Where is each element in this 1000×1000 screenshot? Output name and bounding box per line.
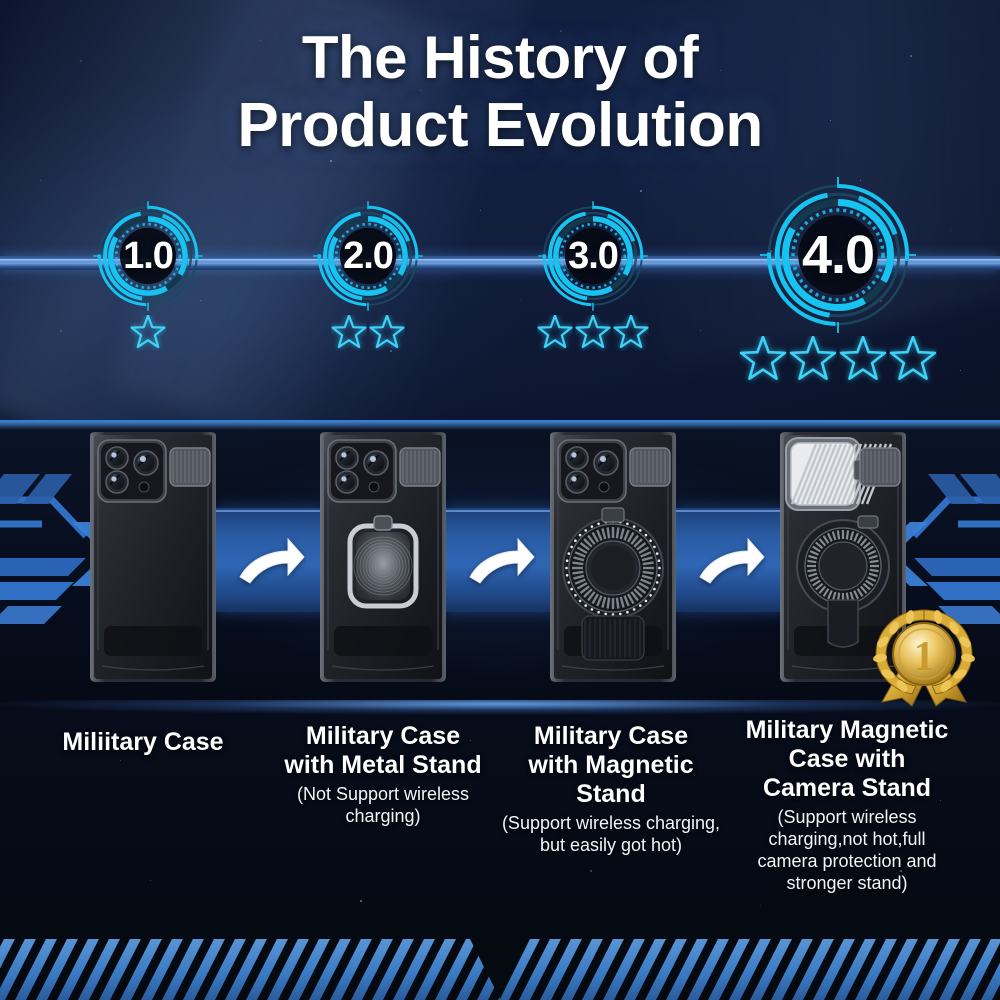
curved-arrow-up-right-icon	[215, 508, 327, 612]
product-name: Miliitary Case	[18, 728, 268, 757]
star-outline-icon	[889, 336, 937, 384]
product-note: (Support wireless charging,but easily go…	[496, 812, 726, 856]
hud-ring-icon: 1.0	[95, 203, 201, 309]
hud-ring-icon: 3.0	[540, 203, 646, 309]
phone-case-plain-icon[interactable]	[78, 430, 228, 690]
star-outline-icon	[739, 336, 787, 384]
product-name: Military Casewith Metal Stand	[268, 722, 498, 780]
phone-case-magnetic-icon[interactable]	[538, 430, 688, 690]
star-outline-icon	[331, 315, 367, 351]
version-number: 4.0	[763, 180, 913, 330]
star-outline-icon	[613, 315, 649, 351]
product-caption: Military Casewith MagneticStand(Support …	[496, 722, 726, 856]
infographic-canvas: The History of Product Evolution 1.0	[0, 0, 1000, 1000]
product-note: (Not Support wirelesscharging)	[268, 783, 498, 827]
star-outline-icon	[789, 336, 837, 384]
title-line-2: Product Evolution	[0, 92, 1000, 160]
star-rating	[536, 315, 650, 351]
product-caption: Military MagneticCase withCamera Stand(S…	[722, 716, 972, 894]
version-timeline: 1.0 2.0	[0, 170, 1000, 390]
product-name: Military MagneticCase withCamera Stand	[722, 716, 972, 803]
hud-ring-icon: 2.0	[315, 203, 421, 309]
star-rating	[329, 315, 407, 351]
star-outline-icon	[369, 315, 405, 351]
product-note: (Support wirelesscharging,not hot,fullca…	[722, 806, 972, 894]
title-line-1: The History of	[0, 24, 1000, 92]
version-number: 2.0	[315, 203, 421, 309]
curved-arrow-up-right-icon	[445, 508, 557, 612]
timeline-node-4-0[interactable]: 4.0	[763, 180, 913, 384]
timeline-node-3-0[interactable]: 3.0	[540, 203, 646, 351]
gold-medal-first-place-icon: 1	[866, 604, 982, 713]
hud-ring-icon: 4.0	[763, 180, 913, 330]
timeline-node-1-0[interactable]: 1.0	[95, 203, 201, 351]
curved-arrow-up-right-icon	[675, 508, 787, 612]
product-caption: Miliitary Case	[18, 728, 268, 757]
product-captions: Miliitary CaseMilitary Casewith Metal St…	[0, 712, 1000, 922]
star-outline-icon	[839, 336, 887, 384]
page-title: The History of Product Evolution	[0, 24, 1000, 160]
product-band	[0, 420, 1000, 702]
product-caption: Military Casewith Metal Stand(Not Suppor…	[268, 722, 498, 827]
star-outline-icon	[575, 315, 611, 351]
version-number: 3.0	[540, 203, 646, 309]
timeline-node-2-0[interactable]: 2.0	[315, 203, 421, 351]
svg-text:1: 1	[914, 634, 935, 680]
star-outline-icon	[130, 315, 166, 351]
diagonal-stripes-border-icon	[0, 925, 1000, 1000]
version-number: 1.0	[95, 203, 201, 309]
star-rating	[738, 336, 938, 384]
product-name: Military Casewith MagneticStand	[496, 722, 726, 809]
star-outline-icon	[537, 315, 573, 351]
star-rating	[127, 315, 169, 351]
phone-case-ring-stand-icon[interactable]	[308, 430, 458, 690]
